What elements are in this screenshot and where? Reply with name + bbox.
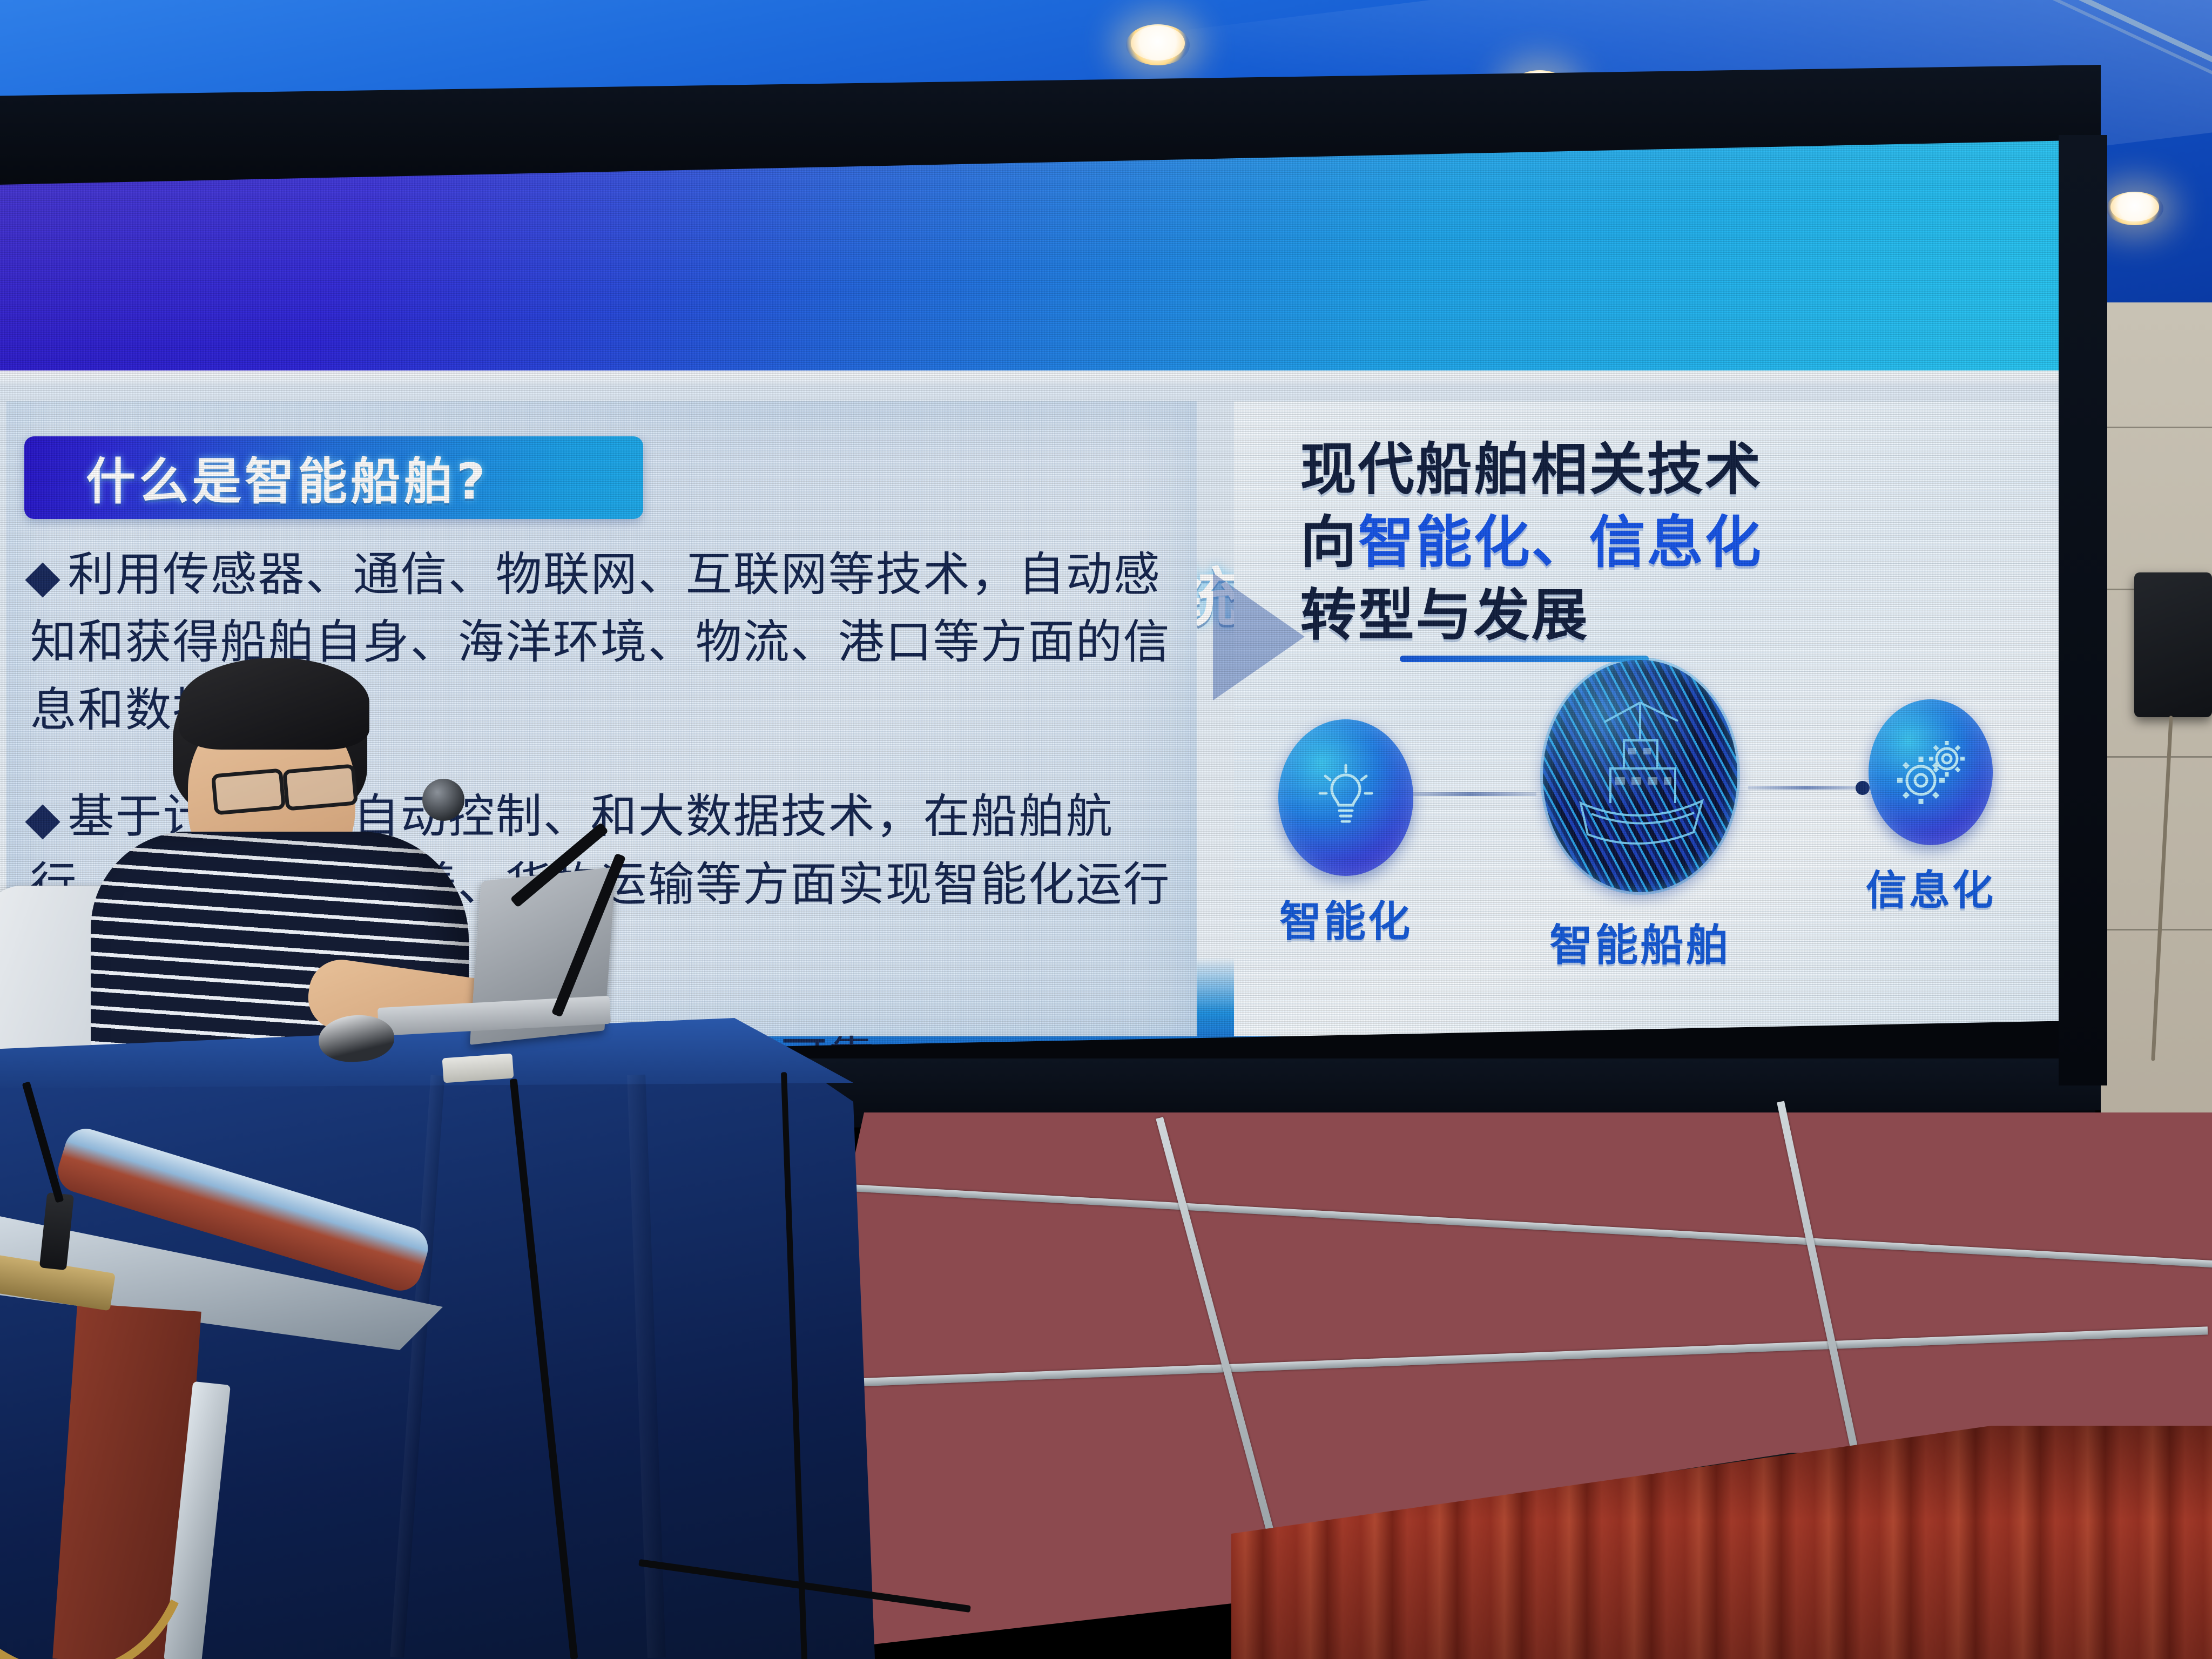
wall-seam-4 [2101,929,2212,930]
usb-hub-dongle[interactable] [442,1054,514,1083]
presenter-glasses-right [282,764,358,811]
arrow-triangle-icon [1213,573,1305,700]
ship-photo-icon [1559,679,1721,873]
headline-line-2-prefix: 向 [1300,509,1358,575]
gears-orb [1869,699,1993,845]
screen-bezel-right [2059,135,2107,1085]
downlight-4 [2106,192,2163,225]
title-separator [0,370,2074,386]
wall-seam-1 [2101,427,2212,428]
gears-icon [1893,737,1968,807]
node-informatization: 信息化 [1839,699,2022,916]
node-label-intelligent: 智能化 [1263,888,1429,948]
diamond-bullet-icon [25,805,60,840]
lightbulb-icon [1313,760,1378,835]
right-wall-panel [2101,302,2212,1215]
node-label-informatization: 信息化 [1839,857,2022,916]
diamond-bullet-icon [25,562,60,597]
ship-photo-orb [1543,660,1737,892]
section-heading-label: 什么是智能船舶? [86,442,488,514]
node-diagram: 智能化 [1234,706,2063,1037]
wall-speaker [2134,572,2212,717]
presenter-glasses [211,768,286,815]
node-label-smart-ship: 智能船舶 [1516,911,1765,973]
presenter-hair-top [179,658,369,750]
scene-root: 智能船舶能效管理系统发展现状 什么是智能船舶? 利用传感器、通信、物联网、互联网… [0,0,2212,1659]
node-smart-ship: 智能船舶 [1516,660,1765,973]
lightbulb-orb [1278,719,1413,876]
headline-line-1: 现代船舶相关技术 [1300,433,2014,506]
node-intelligent: 智能化 [1263,719,1429,948]
right-panel-headline: 现代船舶相关技术 向智能化、信息化 转型与发展 [1300,433,2014,652]
slide-right-panel: 现代船舶相关技术 向智能化、信息化 转型与发展 [1234,401,2063,1036]
headline-line-2-accent: 智能化、信息化 [1358,509,1763,575]
section-heading-pill: 什么是智能船舶? [24,436,643,519]
wall-seam-3 [2101,756,2212,758]
headline-line-2: 向智能化、信息化 [1300,506,2014,579]
downlight-1 [1126,24,1190,65]
table-microphone-head [422,779,464,821]
headline-line-3: 转型与发展 [1300,579,2014,652]
